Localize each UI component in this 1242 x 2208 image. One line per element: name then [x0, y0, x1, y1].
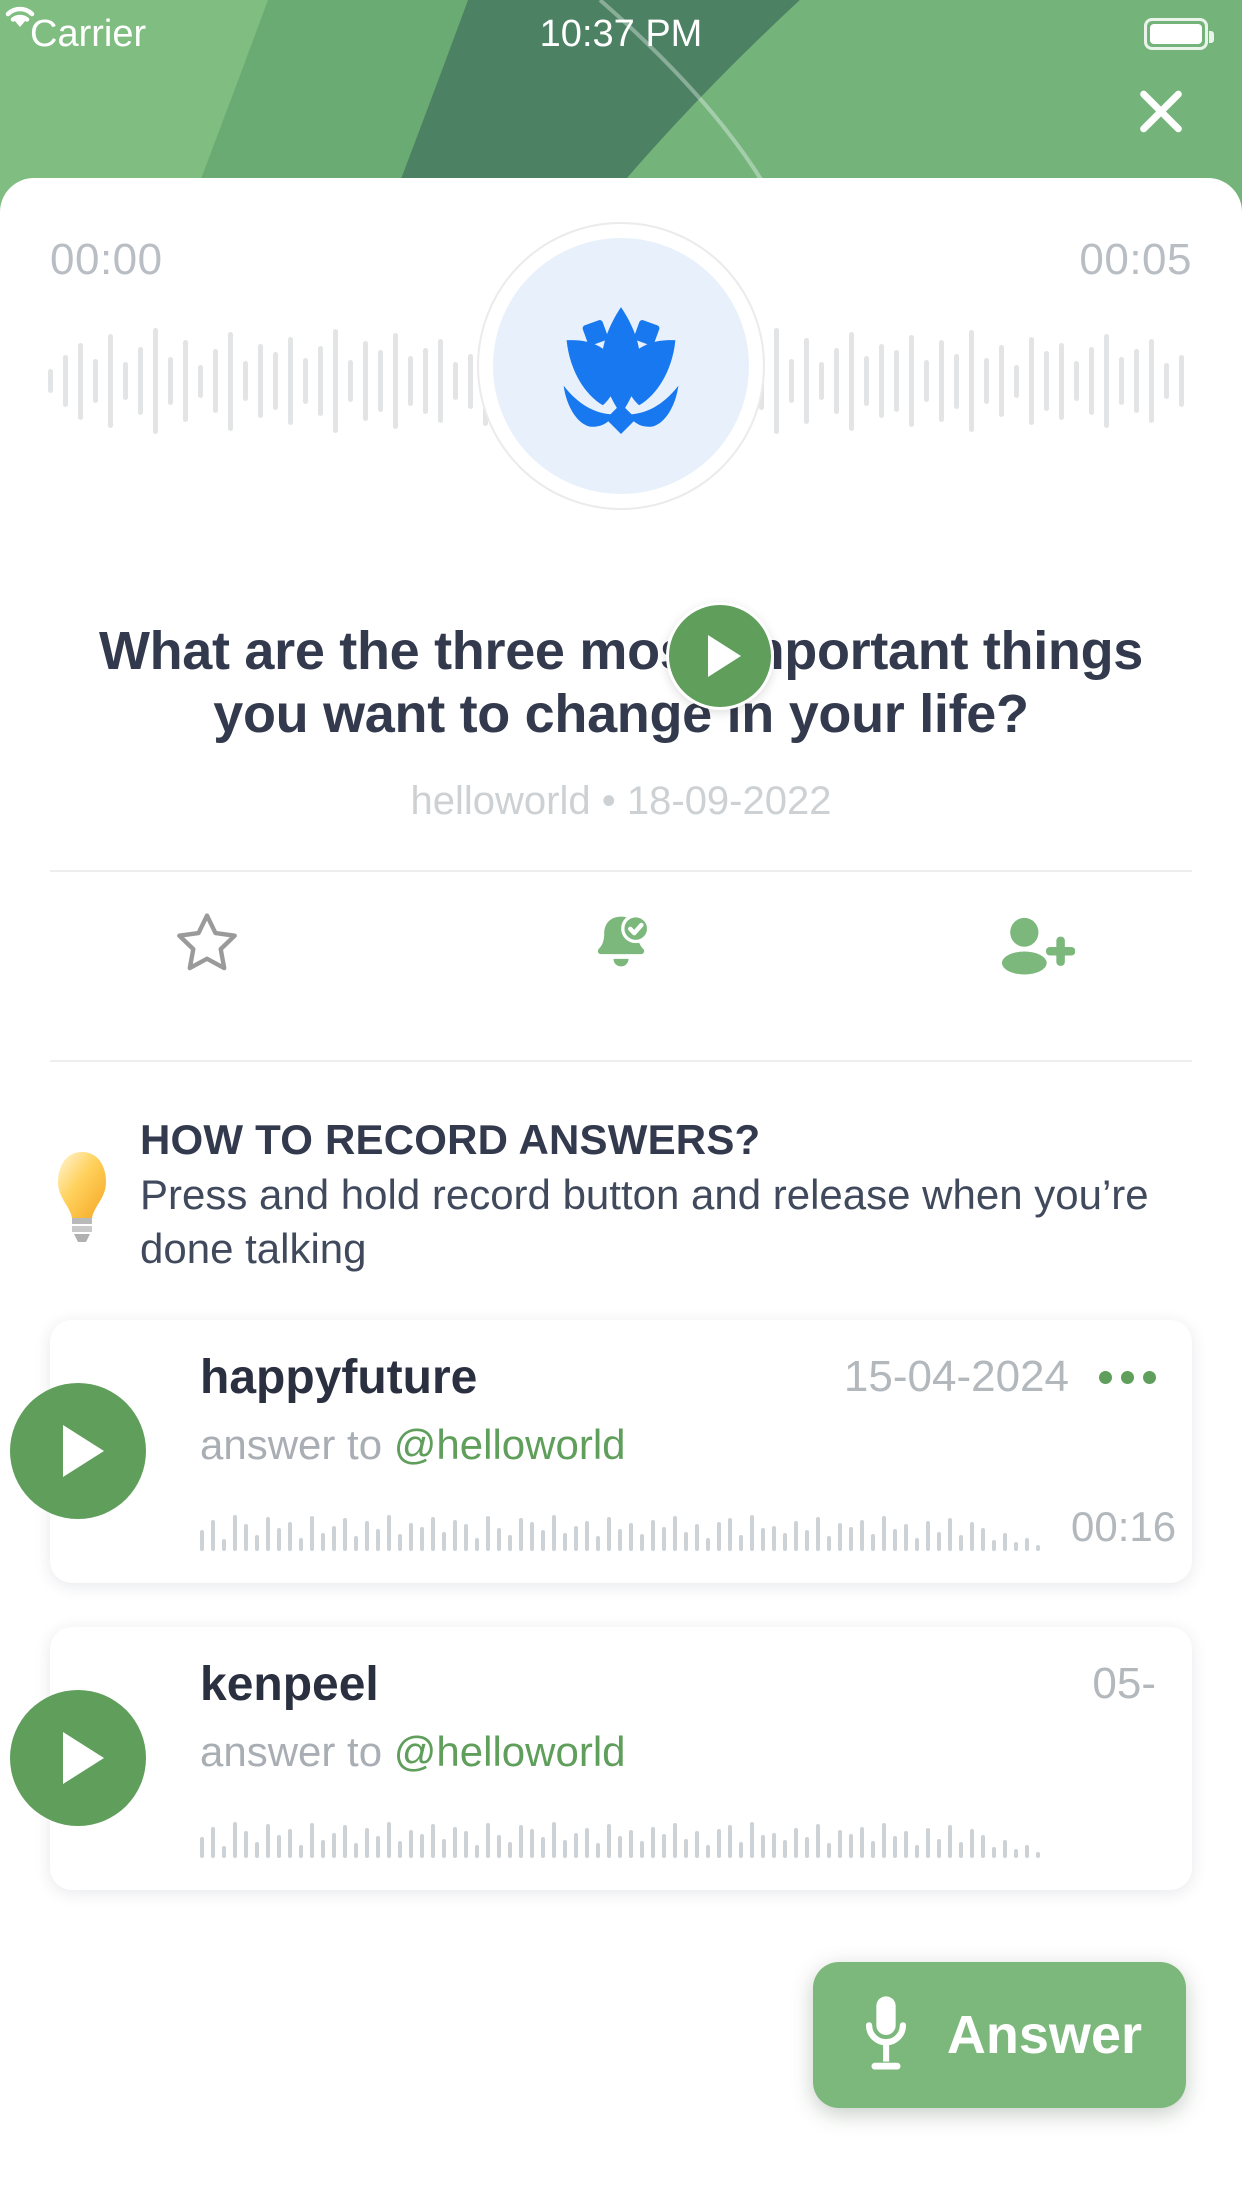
waveform-bar — [574, 1833, 578, 1858]
waveform-bar — [761, 1528, 765, 1551]
waveform-bar — [882, 1823, 886, 1858]
waveform-bar — [1003, 1533, 1007, 1551]
waveform-bar — [673, 1516, 677, 1551]
waveform-bar — [827, 1843, 831, 1857]
waveform-bar — [629, 1830, 633, 1858]
waveform-bar — [695, 1831, 699, 1857]
waveform-bar — [774, 328, 779, 434]
waveform-bar — [310, 1516, 314, 1551]
waveform-bar — [926, 1828, 930, 1858]
waveform-bar — [894, 350, 899, 412]
waveform-bar — [893, 1836, 897, 1858]
answer-duration: 00:16 — [1071, 1503, 1176, 1551]
waveform-bar — [662, 1527, 666, 1551]
waveform-bar — [303, 358, 308, 404]
waveform-bar — [508, 1535, 512, 1551]
waveform-bar — [909, 335, 914, 427]
waveform-bar — [783, 1840, 787, 1858]
waveform-bar — [992, 1847, 996, 1858]
waveform-bar — [168, 357, 173, 405]
reply-target[interactable]: @helloworld — [394, 1421, 626, 1468]
waveform-bar — [1179, 355, 1184, 408]
time-start-label: 00:00 — [50, 235, 163, 285]
waveform-bar — [772, 1526, 776, 1551]
waveform-bar — [273, 352, 278, 409]
waveform-bar — [288, 1522, 292, 1551]
waveform-bar — [198, 365, 203, 398]
answer-button[interactable]: Answer — [813, 1962, 1186, 2108]
meta-separator: • — [602, 779, 616, 823]
waveform-bar — [717, 1522, 721, 1551]
waveform-bar — [804, 338, 809, 424]
card-header: happyfuture 15-04-2024 — [200, 1350, 1156, 1405]
list-item[interactable]: kenpeel 05- answer to @helloworld — [50, 1627, 1192, 1890]
card-header: kenpeel 05- — [200, 1657, 1156, 1712]
content-sheet: 00:00 00:05 — [0, 178, 1242, 2208]
waveform-bar — [453, 1827, 457, 1858]
waveform-bar — [48, 369, 53, 393]
waveform-bar — [640, 1534, 644, 1551]
waveform-bar — [871, 1841, 875, 1858]
waveform-bar — [244, 1524, 248, 1550]
waveform-bar — [387, 1515, 391, 1551]
waveform-bar — [200, 1837, 204, 1857]
answer-reply-line: answer to @helloworld — [200, 1421, 1156, 1469]
waveform-bar — [728, 1825, 732, 1857]
waveform-bar — [596, 1536, 600, 1550]
waveform-bar — [970, 1522, 974, 1551]
waveform-bar — [442, 1532, 446, 1551]
waveform-bar — [1014, 1849, 1018, 1857]
waveform-bar — [1014, 365, 1019, 398]
waveform-bar — [409, 1830, 413, 1858]
waveform-bar — [464, 1831, 468, 1857]
avatar — [477, 222, 765, 510]
waveform-bar — [893, 1529, 897, 1551]
waveform-bar — [904, 1524, 908, 1550]
waveform-bar — [376, 1529, 380, 1551]
favorite-button[interactable] — [0, 908, 414, 978]
waveform-bar — [992, 1540, 996, 1551]
waveform-bar — [728, 1518, 732, 1550]
waveform-bar — [233, 1822, 237, 1858]
waveform-bar — [332, 1833, 336, 1858]
waveform-bar — [827, 1536, 831, 1550]
waveform-bar — [563, 1533, 567, 1551]
waveform-bar — [871, 1534, 875, 1551]
answer-date: 05- — [1092, 1659, 1156, 1709]
waveform-bar — [486, 1823, 490, 1858]
waveform-bar — [1014, 1542, 1018, 1550]
waveform-bar — [310, 1823, 314, 1858]
waveform-bar — [915, 1538, 919, 1551]
record-hint: HOW TO RECORD ANSWERS? Press and hold re… — [0, 1062, 1242, 1276]
waveform-bar — [552, 1822, 556, 1858]
answer-username: happyfuture — [200, 1350, 844, 1405]
waveform-bar — [849, 332, 854, 431]
list-item[interactable]: happyfuture 15-04-2024 answer to @hellow… — [50, 1320, 1192, 1583]
waveform-bar — [959, 1535, 963, 1551]
waveform-bar — [354, 1536, 358, 1550]
waveform-bar — [805, 1530, 809, 1550]
waveform-bar — [816, 1517, 820, 1551]
waveform-bar — [211, 1520, 215, 1551]
question-date: 18-09-2022 — [627, 779, 832, 823]
lotus-icon — [545, 298, 697, 434]
waveform-bar — [497, 1835, 501, 1858]
waveform-bar — [1003, 1840, 1007, 1858]
waveform-bar — [552, 1515, 556, 1551]
waveform-bar — [926, 1521, 930, 1551]
waveform-bar — [255, 1842, 259, 1858]
waveform-bar — [563, 1840, 567, 1858]
waveform-bar — [398, 1534, 402, 1551]
waveform-bar — [266, 1824, 270, 1858]
waveform-bar — [1029, 337, 1034, 425]
waveform-bar — [789, 359, 794, 403]
waveform-bar — [343, 1518, 347, 1550]
lightbulb-icon — [50, 1116, 114, 1276]
waveform-bar — [277, 1528, 281, 1551]
waveform-bar — [574, 1526, 578, 1551]
waveform-bar — [651, 1520, 655, 1551]
waveform-bar — [348, 360, 353, 402]
waveform-bar — [420, 1527, 424, 1551]
waveform-bar — [1059, 343, 1064, 420]
waveform-bar — [288, 337, 293, 425]
waveform-bar — [761, 1835, 765, 1858]
waveform-bar — [1036, 1545, 1040, 1551]
waveform-bar — [123, 362, 128, 399]
waveform-bar — [882, 1516, 886, 1551]
waveform-bar — [860, 1520, 864, 1551]
waveform-bar — [948, 1825, 952, 1857]
waveform-bar — [772, 1833, 776, 1858]
waveform-bar — [783, 1533, 787, 1551]
waveform-bar — [838, 1523, 842, 1551]
more-options-icon[interactable] — [1099, 1371, 1156, 1384]
card-waveform-row: 00:16 — [200, 1491, 1156, 1551]
waveform-bar — [288, 1829, 292, 1858]
bell-check-icon — [585, 907, 657, 979]
waveform-bar — [984, 358, 989, 404]
waveform-bar — [541, 1530, 545, 1550]
waveform-bar — [420, 1834, 424, 1858]
waveform-bar — [423, 348, 428, 414]
waveform-bar — [999, 345, 1004, 418]
waveform-bar — [651, 1827, 655, 1858]
waveform-bar — [937, 1839, 941, 1858]
waveform-bar — [365, 1521, 369, 1551]
microphone-icon — [857, 1993, 915, 2077]
waveform-bar — [684, 1839, 688, 1858]
waveform-bar — [969, 330, 974, 431]
waveform-bar — [183, 340, 188, 421]
waveform-bar — [222, 1539, 226, 1551]
waveform-bar — [1104, 334, 1109, 429]
reply-target[interactable]: @helloworld — [394, 1728, 626, 1775]
waveform-bar — [438, 339, 443, 423]
waveform-bar — [1036, 1852, 1040, 1858]
waveform-bar — [333, 329, 338, 432]
invite-button[interactable] — [828, 910, 1242, 976]
waveform-bar — [211, 1827, 215, 1858]
waveform-bar — [266, 1517, 270, 1551]
waveform-bar — [408, 356, 413, 407]
waveform-bar — [864, 356, 869, 407]
waveform-bar — [138, 347, 143, 415]
waveform-bar — [321, 1840, 325, 1858]
waveform-bar — [363, 341, 368, 420]
waveform-bar — [213, 349, 218, 413]
play-icon[interactable] — [10, 1383, 146, 1519]
waveform-bar — [585, 1828, 589, 1858]
waveform-bar — [981, 1528, 985, 1551]
question-meta: helloworld • 18-09-2022 — [0, 779, 1242, 824]
waveform-bar — [475, 1845, 479, 1858]
waveform-bar — [739, 1535, 743, 1551]
waveform-bar — [453, 1520, 457, 1551]
waveform-bar — [376, 1836, 380, 1858]
waveform-bar — [468, 354, 473, 409]
waveform-bar — [93, 359, 98, 403]
answer-date: 15-04-2024 — [844, 1352, 1069, 1402]
waveform-bar — [1025, 1845, 1029, 1858]
waveform-bar — [629, 1523, 633, 1551]
page-title: What are the three most important things… — [58, 620, 1184, 745]
waveform-bar — [78, 343, 83, 420]
waveform-bar — [475, 1538, 479, 1551]
time-end-label: 00:05 — [1079, 235, 1192, 285]
waveform-bar — [959, 1842, 963, 1858]
waveform-bar — [332, 1526, 336, 1551]
clock-label: 10:37 PM — [0, 13, 1242, 56]
waveform-bar — [530, 1522, 534, 1551]
battery-full-icon — [1144, 18, 1208, 50]
waveform-bar — [222, 1846, 226, 1858]
waveform-bar — [1025, 1538, 1029, 1551]
waveform-bar — [1134, 349, 1139, 413]
waveform-bar — [750, 1822, 754, 1858]
waveform-bar — [200, 1530, 204, 1550]
hint-body: Press and hold record button and release… — [140, 1168, 1192, 1276]
waveform-bar — [486, 1516, 490, 1551]
waveform-bar — [497, 1528, 501, 1551]
waveform-bar — [618, 1836, 622, 1858]
waveform-bar — [1044, 351, 1049, 410]
waveform-bar — [1074, 361, 1079, 401]
waveform-bar — [618, 1529, 622, 1551]
waveform-bar — [673, 1823, 677, 1858]
waveform-bar — [464, 1524, 468, 1550]
avatar-inner — [493, 238, 749, 494]
close-icon[interactable] — [1122, 72, 1200, 150]
waveform-bar — [904, 1831, 908, 1857]
waveform-bar — [153, 328, 158, 434]
answer-button-label: Answer — [947, 2004, 1142, 2066]
waveform-bar — [819, 362, 824, 399]
hint-title: HOW TO RECORD ANSWERS? — [140, 1116, 1192, 1164]
action-row — [0, 872, 1242, 1014]
waveform-bar — [1164, 363, 1169, 398]
waveform-bar — [706, 1538, 710, 1551]
answer-waveform[interactable] — [200, 1798, 1156, 1858]
question-author: helloworld — [411, 779, 591, 823]
waveform-bar — [277, 1835, 281, 1858]
waveform-bar — [981, 1835, 985, 1858]
waveform-bar — [834, 348, 839, 414]
waveform-bar — [838, 1830, 842, 1858]
waveform-bar — [108, 334, 113, 429]
waveform-bar — [860, 1827, 864, 1858]
waveform-bar — [431, 1517, 435, 1551]
play-triangle — [63, 1425, 104, 1477]
waveform-bar — [794, 1521, 798, 1551]
waveform-bar — [849, 1834, 853, 1858]
waveform-bar — [684, 1532, 688, 1551]
reply-prefix: answer to — [200, 1421, 394, 1468]
waveform-bar — [596, 1843, 600, 1857]
waveform-bar — [924, 360, 929, 402]
audio-player: 00:00 00:05 — [0, 178, 1242, 598]
waveform-bar — [228, 332, 233, 431]
hint-text: HOW TO RECORD ANSWERS? Press and hold re… — [140, 1116, 1192, 1276]
play-triangle — [63, 1732, 104, 1784]
person-add-icon — [995, 910, 1075, 976]
waveform-bar — [321, 1533, 325, 1551]
answer-username: kenpeel — [200, 1657, 1092, 1712]
reply-prefix: answer to — [200, 1728, 394, 1775]
status-bar: Carrier 10:37 PM — [0, 0, 1242, 68]
waveform-bar — [750, 1515, 754, 1551]
waveform-bar — [409, 1523, 413, 1551]
waveform-bar — [937, 1532, 941, 1551]
waveform-bar — [258, 344, 263, 419]
waveform-bar — [378, 350, 383, 412]
waveform-bar — [393, 333, 398, 430]
waveform-bar — [794, 1828, 798, 1858]
waveform-bar — [706, 1845, 710, 1858]
waveform-bar — [244, 1831, 248, 1857]
waveform-bar — [343, 1825, 347, 1857]
waveform-bar — [508, 1842, 512, 1858]
waveform-bar — [431, 1824, 435, 1858]
waveform-bar — [662, 1834, 666, 1858]
waveform-bar — [849, 1527, 853, 1551]
waveform-bar — [442, 1839, 446, 1858]
play-triangle — [708, 635, 741, 677]
waveform-bar — [299, 1845, 303, 1858]
waveform-bar — [607, 1824, 611, 1858]
waveform-bar — [519, 1825, 523, 1857]
waveform-bar — [695, 1524, 699, 1550]
waveform-bar — [453, 362, 458, 399]
waveform-bar — [63, 355, 68, 408]
waveform-bar — [915, 1845, 919, 1858]
notify-button[interactable] — [414, 907, 828, 979]
card-waveform-row — [200, 1798, 1156, 1858]
waveform-bar — [365, 1828, 369, 1858]
waveform-bar — [541, 1837, 545, 1857]
waveform-bar — [879, 344, 884, 419]
waveform-bar — [585, 1521, 589, 1551]
waveform-bar — [640, 1841, 644, 1858]
waveform-bar — [970, 1829, 974, 1858]
waveform-bar — [243, 361, 248, 401]
waveform-bar — [1149, 339, 1154, 423]
play-icon[interactable] — [666, 602, 774, 710]
waveform-bar — [739, 1842, 743, 1858]
waveform-bar — [299, 1538, 303, 1551]
waveform-bar — [318, 346, 323, 416]
star-outline-icon — [171, 908, 243, 978]
waveform-bar — [805, 1837, 809, 1857]
waveform-bar — [954, 354, 959, 409]
waveform-bar — [530, 1829, 534, 1858]
waveform-bar — [387, 1822, 391, 1858]
answer-waveform[interactable] — [200, 1491, 1047, 1551]
waveform-bar — [1119, 357, 1124, 405]
waveform-bar — [948, 1518, 952, 1550]
waveform-bar — [939, 340, 944, 421]
waveform-bar — [354, 1843, 358, 1857]
waveform-bar — [398, 1841, 402, 1858]
waveform-bar — [519, 1518, 523, 1550]
play-icon[interactable] — [10, 1690, 146, 1826]
waveform-bar — [1089, 347, 1094, 415]
waveform-bar — [233, 1515, 237, 1551]
answer-reply-line: answer to @helloworld — [200, 1728, 1156, 1776]
waveform-bar — [816, 1824, 820, 1858]
waveform-bar — [255, 1535, 259, 1551]
waveform-bar — [717, 1829, 721, 1858]
waveform-bar — [607, 1517, 611, 1551]
